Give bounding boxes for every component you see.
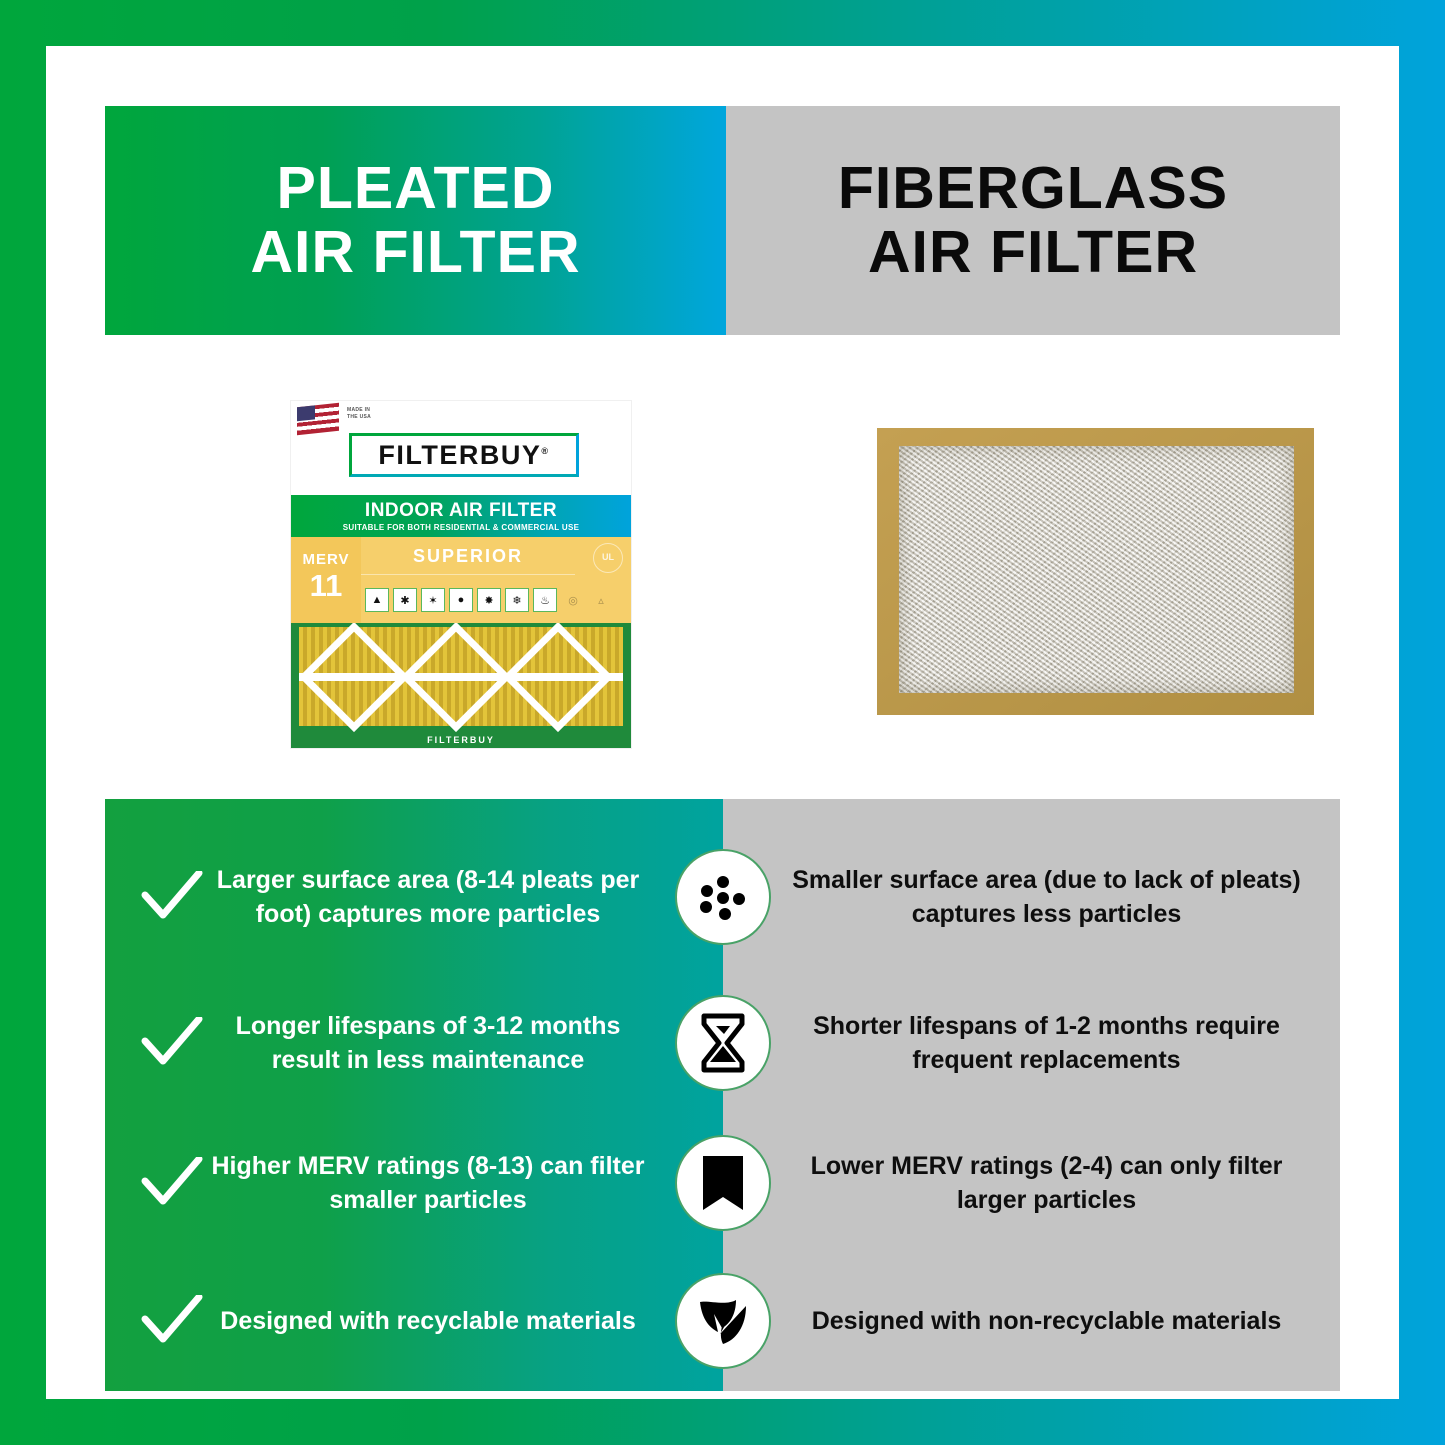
row-icon xyxy=(675,1135,771,1231)
checkmark-icon xyxy=(141,1295,203,1347)
usa-flag-icon xyxy=(297,403,339,435)
row-left-text: Designed with recyclable materials xyxy=(203,1304,653,1338)
hourglass-glyph xyxy=(694,1012,752,1074)
fiberglass-media-texture xyxy=(899,446,1294,693)
leaf-eco-icon xyxy=(675,1273,771,1369)
row-left-text: Larger surface area (8-14 pleats per foo… xyxy=(203,863,653,931)
ul-seal-icon xyxy=(593,543,623,573)
row-left-text: Higher MERV ratings (8-13) can filter sm… xyxy=(203,1149,653,1217)
merv-panel: MERV 11 SUPERIOR ▲ ✱ ✶ ● ✸ ❄ ♨ ◎ ▵ xyxy=(291,537,631,623)
band-title: INDOOR AIR FILTER xyxy=(291,500,631,522)
insect-icon: ✱ xyxy=(393,588,417,612)
dust-icon: ▲ xyxy=(365,588,389,612)
comparison-row: Higher MERV ratings (8-13) can filter sm… xyxy=(105,1119,1340,1247)
made-in-usa-label: MADE INTHE USA xyxy=(347,407,371,420)
support-diamond xyxy=(401,623,511,732)
hourglass-icon xyxy=(675,995,771,1091)
filterbuy-logo-text: FILTERBUY® xyxy=(378,440,549,471)
header-pleated-line1: PLEATED xyxy=(250,157,580,221)
merv-badge: MERV 11 xyxy=(291,537,361,623)
row-icon xyxy=(675,995,771,1091)
faded-icon-1: ◎ xyxy=(561,588,585,612)
comparison-row: Larger surface area (8-14 pleats per foo… xyxy=(105,827,1340,967)
header-pleated-title: PLEATED AIR FILTER xyxy=(250,157,580,284)
row-left-cell: Longer lifespans of 3-12 months result i… xyxy=(105,1009,723,1077)
header-pleated: PLEATED AIR FILTER xyxy=(105,106,726,335)
fiberglass-filter-image xyxy=(877,428,1314,715)
leaf-glyph xyxy=(692,1290,754,1352)
row-left-text: Longer lifespans of 3-12 months result i… xyxy=(203,1009,653,1077)
header-fiberglass-title: FIBERGLASS AIR FILTER xyxy=(838,157,1228,284)
header-fiberglass-line2: AIR FILTER xyxy=(838,221,1228,285)
row-icon xyxy=(675,1273,771,1369)
pleated-media-visual: FILTERBUY xyxy=(291,623,631,748)
faded-icon-2: ▵ xyxy=(589,588,613,612)
header-pleated-line2: AIR FILTER xyxy=(250,221,580,285)
ribbon-bookmark-icon xyxy=(675,1135,771,1231)
row-right-text: Designed with non-recyclable materials xyxy=(723,1304,1340,1338)
smoke-icon: ♨ xyxy=(533,588,557,612)
comparison-panel: Larger surface area (8-14 pleats per foo… xyxy=(105,799,1340,1391)
indoor-air-filter-band: INDOOR AIR FILTER SUITABLE FOR BOTH RESI… xyxy=(291,495,631,537)
box-top-white-area: MADE INTHE USA FILTERBUY® xyxy=(291,401,631,505)
checkmark-icon xyxy=(141,1017,203,1069)
support-diamond xyxy=(299,623,409,732)
particles-icon xyxy=(675,849,771,945)
row-right-text: Smaller surface area (due to lack of ple… xyxy=(723,863,1340,931)
merv-value: 11 xyxy=(291,570,361,601)
box-footer-brand: FILTERBUY xyxy=(291,735,631,745)
pollen-icon: ✶ xyxy=(421,588,445,612)
header-row: PLEATED AIR FILTER FIBERGLASS AIR FILTER xyxy=(105,106,1340,335)
feature-icon-row: ▲ ✱ ✶ ● ✸ ❄ ♨ ◎ ▵ xyxy=(365,581,627,619)
checkmark-icon xyxy=(141,871,203,923)
row-left-cell: Designed with recyclable materials xyxy=(105,1295,723,1347)
merv-label: MERV xyxy=(291,551,361,568)
infographic-canvas: PLEATED AIR FILTER FIBERGLASS AIR FILTER… xyxy=(46,46,1399,1399)
particles-glyph xyxy=(692,866,754,928)
row-icon xyxy=(675,849,771,945)
bookmark-glyph xyxy=(697,1153,749,1213)
support-diamond xyxy=(503,623,613,732)
comparison-row: Longer lifespans of 3-12 months result i… xyxy=(105,979,1340,1107)
support-grid xyxy=(299,627,623,726)
checkmark-icon xyxy=(141,1157,203,1209)
row-right-text: Lower MERV ratings (2-4) can only filter… xyxy=(723,1149,1340,1217)
header-fiberglass: FIBERGLASS AIR FILTER xyxy=(726,106,1340,335)
comparison-rows: Larger surface area (8-14 pleats per foo… xyxy=(105,799,1340,1391)
product-images-row: MADE INTHE USA FILTERBUY® INDOOR AIR FIL… xyxy=(105,335,1340,799)
band-subtitle: SUITABLE FOR BOTH RESIDENTIAL & COMMERCI… xyxy=(291,523,631,532)
row-left-cell: Higher MERV ratings (8-13) can filter sm… xyxy=(105,1149,723,1217)
row-right-text: Shorter lifespans of 1-2 months require … xyxy=(723,1009,1340,1077)
grade-label: SUPERIOR xyxy=(361,539,575,575)
mold-icon: ● xyxy=(449,588,473,612)
header-fiberglass-line1: FIBERGLASS xyxy=(838,157,1228,221)
filterbuy-product-box: MADE INTHE USA FILTERBUY® INDOOR AIR FIL… xyxy=(291,401,631,748)
registered-mark: ® xyxy=(541,446,549,456)
filterbuy-logo: FILTERBUY® xyxy=(349,433,579,477)
comparison-row: Designed with recyclable materials Desig… xyxy=(105,1257,1340,1385)
pet-dander-icon: ❄ xyxy=(505,588,529,612)
row-left-cell: Larger surface area (8-14 pleats per foo… xyxy=(105,863,723,931)
bacteria-icon: ✸ xyxy=(477,588,501,612)
